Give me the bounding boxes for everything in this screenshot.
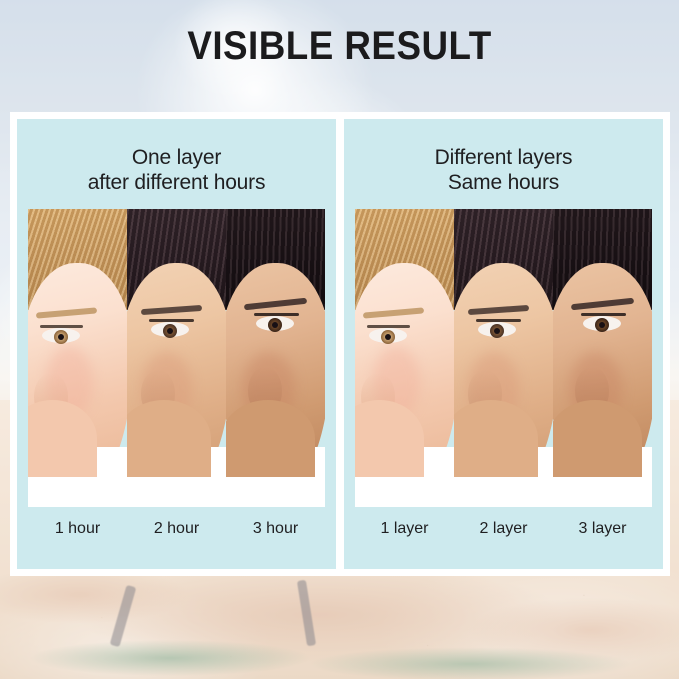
caption-shot-2: 2 layer xyxy=(454,520,553,538)
caption-shot-1: 1 layer xyxy=(355,520,454,538)
caption-row: 1 layer 2 layer 3 layer xyxy=(355,507,652,538)
panel-one-layer: One layer after different hours xyxy=(17,119,336,569)
caption-row: 1 hour 2 hour 3 hour xyxy=(28,507,325,538)
caption-shot-3: 3 hour xyxy=(226,520,325,538)
face-photo-1-layer xyxy=(355,209,454,507)
panel-heading-line2: after different hours xyxy=(17,170,336,195)
panel-heading-line1: Different layers xyxy=(344,145,663,170)
face-strip xyxy=(355,209,652,507)
panel-heading-line2: Same hours xyxy=(344,170,663,195)
face-photo-3-hour xyxy=(226,209,325,507)
caption-shot-1: 1 hour xyxy=(28,520,127,538)
panel-heading: One layer after different hours xyxy=(17,119,336,195)
caption-shot-2: 2 hour xyxy=(127,520,226,538)
face-photo-2-hour xyxy=(127,209,226,507)
face-photo-2-layer xyxy=(454,209,553,507)
panel-divider xyxy=(336,119,344,569)
face-photo-3-layer xyxy=(553,209,652,507)
panel-heading-line1: One layer xyxy=(17,145,336,170)
face-photo-1-hour xyxy=(28,209,127,507)
face-strip xyxy=(28,209,325,507)
caption-shot-3: 3 layer xyxy=(553,520,652,538)
page-title: VISIBLE RESULT xyxy=(27,24,652,69)
comparison-card: One layer after different hours xyxy=(10,112,670,576)
poster-canvas: VISIBLE RESULT One layer after different… xyxy=(0,0,679,679)
panel-heading: Different layers Same hours xyxy=(344,119,663,195)
panel-different-layers: Different layers Same hours xyxy=(344,119,663,569)
